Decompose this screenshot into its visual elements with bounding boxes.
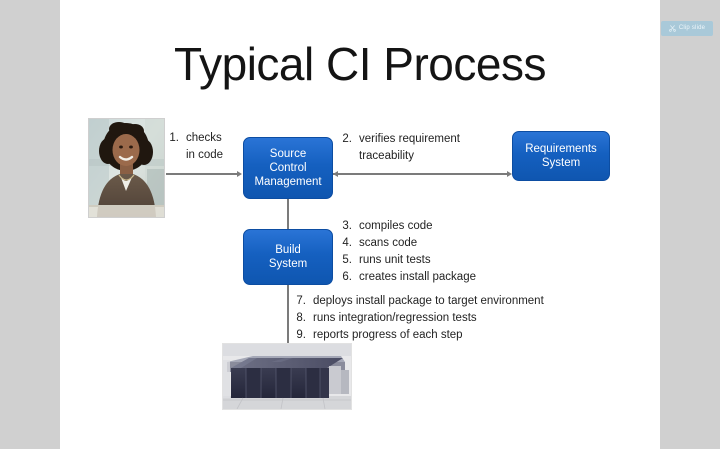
step-item: 2. verifies requirement [338,131,460,148]
step-list-checkin: 1. checks in code [165,130,223,164]
step-number: 6. [338,269,359,286]
page-title: Typical CI Process [60,38,660,90]
node-label-line: System [542,156,580,170]
step-text: verifies requirement [359,131,460,148]
step-number: 2. [338,131,359,148]
step-number: 4. [338,235,359,252]
slide-viewer: Typical CI Process [0,0,720,449]
step-text: runs unit tests [359,252,476,269]
step-number: 1. [165,130,186,147]
step-item: 8. runs integration/regression tests [292,310,544,327]
step-number: 8. [292,310,313,327]
node-label-line: System [269,257,307,271]
node-label-line: Build [275,243,301,257]
node-label-line: Management [254,175,321,189]
step-list-deploy: 7. deploys install package to target env… [292,293,544,344]
step-list-build: 3. compiles code 4. scans code 5. runs u… [338,218,476,286]
step-text: compiles code [359,218,476,235]
node-build-system: Build System [243,229,333,285]
step-number: 9. [292,327,313,344]
step-number: 5. [338,252,359,269]
step-text-continued: in code [165,147,223,164]
connector-scm-to-build [287,199,289,230]
step-text: reports progress of each step [313,327,544,344]
step-text: scans code [359,235,476,252]
node-source-control-management: Source Control Management [243,137,333,199]
step-number: 7. [292,293,313,310]
server-racks-photo [222,343,352,410]
connector-dev-to-scm [166,173,238,175]
step-item: 1. checks [165,130,223,147]
arrowhead-dev-to-scm [237,171,242,177]
step-text: runs integration/regression tests [313,310,544,327]
step-item: 6. creates install package [338,269,476,286]
node-label-line: Requirements [525,142,597,156]
node-requirements-system: Requirements System [512,131,610,181]
step-item: 9. reports progress of each step [292,327,544,344]
clip-slide-label: Clip slide [679,25,705,32]
step-list-traceability: 2. verifies requirement traceability [338,131,460,165]
arrowhead-requirements-to-scm [333,171,338,177]
step-text: deploys install package to target enviro… [313,293,544,310]
node-label-line: Source [270,147,306,161]
step-text: creates install package [359,269,476,286]
server-racks-illustration [223,344,351,409]
connector-scm-to-requirements [333,173,508,175]
developer-photo [88,118,165,218]
connector-build-to-servers [287,285,289,347]
node-label-line: Control [269,161,306,175]
step-item: 5. runs unit tests [338,252,476,269]
scissors-icon [669,25,676,32]
step-item: 3. compiles code [338,218,476,235]
step-item: 4. scans code [338,235,476,252]
step-text-continued: traceability [338,148,460,165]
clip-slide-button[interactable]: Clip slide [661,21,713,36]
step-item: 7. deploys install package to target env… [292,293,544,310]
developer-photo-illustration [89,119,164,217]
step-text: checks [186,130,223,147]
step-number: 3. [338,218,359,235]
slide-canvas: Typical CI Process [60,0,660,449]
